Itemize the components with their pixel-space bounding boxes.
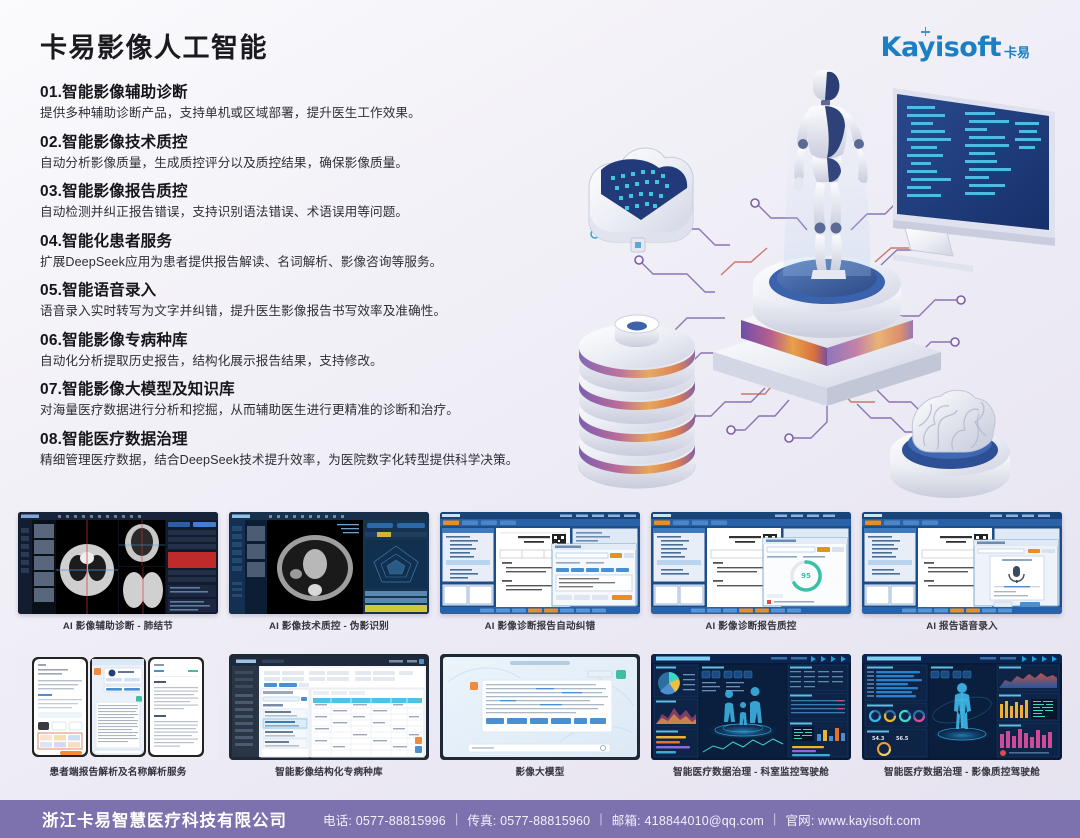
screenshot-caption: 影像大模型	[516, 767, 565, 779]
feature-item-08: 08.智能医疗数据治理 精细管理医疗数据，结合DeepSeek技术提升效率，为医…	[40, 429, 570, 469]
footer-contact-info: 电话: 0577-88815996 | 传真: 0577-88815960 | …	[323, 810, 921, 829]
footer-website: 官网: www.kayisoft.com	[785, 810, 920, 829]
feature-description: 自动分析影像质量，生成质控评分以及质控结果，确保影像质量。	[40, 155, 570, 172]
gallery-item-ct-viewer-radar[interactable]: AI 影像技术质控 - 伪影识别	[229, 512, 429, 633]
feature-title: 03.智能影像报告质控	[40, 181, 570, 202]
gallery-item-dashboard-quality[interactable]: 54.3 56.5	[862, 654, 1062, 779]
feature-description: 扩展DeepSeek应用为患者提供报告解读、名词解析、影像咨询等服务。	[40, 254, 570, 271]
monitor-code-screen	[893, 88, 1055, 272]
logo-chinese-name: 卡易	[1004, 46, 1030, 61]
footer-separator: |	[773, 812, 776, 826]
feature-title: 06.智能影像专病种库	[40, 330, 570, 351]
footer-bar: 浙江卡易智慧医疗科技有限公司 电话: 0577-88815996 | 传真: 0…	[0, 800, 1080, 838]
footer-company-name: 浙江卡易智慧医疗科技有限公司	[42, 807, 287, 831]
screenshot-thumbnail[interactable]	[440, 654, 640, 760]
feature-list: 01.智能影像辅助诊断 提供多种辅助诊断产品，支持单机或区域部署，提升医生工作效…	[40, 82, 570, 478]
gallery-item-dashboard-dept[interactable]: 智能医疗数据治理 - 科室监控驾驶舱	[651, 654, 851, 779]
feature-item-05: 05.智能语音录入 语音录入实时转写为文字并纠错，提升医生影像报告书写效率及准确…	[40, 280, 570, 320]
screenshot-gallery: AI 影像辅助诊断 - 肺结节	[0, 512, 1080, 779]
screenshot-caption: AI 影像技术质控 - 伪影识别	[269, 621, 389, 633]
feature-item-07: 07.智能影像大模型及知识库 对海量医疗数据进行分析和挖掘，从而辅助医生进行更精…	[40, 379, 570, 419]
footer-fax: 传真: 0577-88815960	[467, 810, 590, 829]
gallery-item-report-editor-gauge[interactable]: 95 AI 影像诊断报告质控	[651, 512, 851, 633]
cloud-icon	[589, 148, 693, 252]
svg-text:95: 95	[801, 572, 811, 580]
screenshot-thumbnail[interactable]	[18, 654, 218, 760]
feature-title: 08.智能医疗数据治理	[40, 429, 570, 450]
gallery-row-1: AI 影像辅助诊断 - 肺结节	[0, 512, 1080, 633]
footer-phone: 电话: 0577-88815996	[323, 810, 446, 829]
hero-illustration	[575, 70, 1080, 515]
screenshot-thumbnail[interactable]	[229, 512, 429, 614]
poster-page: 卡易影像人工智能 Kayisoft 卡易 01.智能影像辅助诊断 提供多种辅助诊…	[0, 0, 1080, 838]
screenshot-thumbnail[interactable]	[440, 512, 640, 614]
feature-item-02: 02.智能影像技术质控 自动分析影像质量，生成质控评分以及质控结果，确保影像质量…	[40, 132, 570, 172]
screenshot-thumbnail[interactable]: 54.3 56.5	[862, 654, 1062, 760]
gallery-item-ct-viewer-dark[interactable]: AI 影像辅助诊断 - 肺结节	[18, 512, 218, 633]
footer-separator: |	[455, 812, 458, 826]
screenshot-caption: 智能影像结构化专病种库	[275, 767, 383, 779]
feature-item-01: 01.智能影像辅助诊断 提供多种辅助诊断产品，支持单机或区域部署，提升医生工作效…	[40, 82, 570, 122]
screenshot-caption: 智能医疗数据治理 - 科室监控驾驶舱	[673, 767, 829, 779]
feature-item-04: 04.智能化患者服务 扩展DeepSeek应用为患者提供报告解读、名词解析、影像…	[40, 231, 570, 271]
screenshot-caption: 智能医疗数据治理 - 影像质控驾驶舱	[884, 767, 1040, 779]
database-stack	[579, 315, 695, 488]
screenshot-caption: AI 报告语音录入	[926, 621, 998, 633]
feature-description: 自动检测并纠正报告错误，支持识别语法错误、术语误用等问题。	[40, 204, 570, 221]
screenshot-caption: 患者端报告解析及名称解析服务	[49, 767, 186, 779]
feature-title: 05.智能语音录入	[40, 280, 570, 301]
feature-description: 对海量医疗数据进行分析和挖掘，从而辅助医生进行更精准的诊断和治疗。	[40, 402, 570, 419]
footer-email: 邮箱: 418844010@qq.com	[612, 810, 764, 829]
svg-text:54.3: 54.3	[872, 736, 885, 742]
svg-text:56.5: 56.5	[896, 736, 909, 742]
gallery-item-report-editor-blue[interactable]: AI 影像诊断报告自动纠错	[440, 512, 640, 633]
gallery-item-mobile-phones[interactable]: 患者端报告解析及名称解析服务	[18, 654, 218, 779]
screenshot-caption: AI 影像诊断报告质控	[705, 621, 796, 633]
gallery-item-llm-chat[interactable]: 影像大模型	[440, 654, 640, 779]
feature-description: 自动化分析提取历史报告，结构化展示报告结果，支持修改。	[40, 353, 570, 370]
screenshot-thumbnail[interactable]: 95	[651, 512, 851, 614]
feature-description: 提供多种辅助诊断产品，支持单机或区域部署，提升医生工作效果。	[40, 105, 570, 122]
gallery-item-web-table-console[interactable]: 智能影像结构化专病种库	[229, 654, 429, 779]
screenshot-thumbnail[interactable]	[229, 654, 429, 760]
brain-model	[890, 390, 1010, 498]
feature-title: 02.智能影像技术质控	[40, 132, 570, 153]
brand-logo: Kayisoft 卡易	[881, 34, 1030, 61]
footer-separator: |	[599, 812, 602, 826]
feature-title: 01.智能影像辅助诊断	[40, 82, 570, 103]
screenshot-thumbnail[interactable]	[862, 512, 1062, 614]
feature-title: 07.智能影像大模型及知识库	[40, 379, 570, 400]
feature-description: 精细管理医疗数据，结合DeepSeek技术提升效率，为医院数字化转型提供科学决策…	[40, 452, 570, 469]
screenshot-caption: AI 影像诊断报告自动纠错	[485, 621, 596, 633]
feature-title: 04.智能化患者服务	[40, 231, 570, 252]
gallery-item-report-editor-mic[interactable]: AI 报告语音录入	[862, 512, 1062, 633]
logo-wordmark: Kayisoft	[881, 34, 1001, 61]
screenshot-caption: AI 影像辅助诊断 - 肺结节	[63, 621, 173, 633]
gallery-row-2: 患者端报告解析及名称解析服务	[0, 654, 1080, 779]
screenshot-thumbnail[interactable]	[651, 654, 851, 760]
screenshot-thumbnail[interactable]	[18, 512, 218, 614]
feature-description: 语音录入实时转写为文字并纠错，提升医生影像报告书写效率及准确性。	[40, 303, 570, 320]
feature-item-06: 06.智能影像专病种库 自动化分析提取历史报告，结构化展示报告结果，支持修改。	[40, 330, 570, 370]
feature-item-03: 03.智能影像报告质控 自动检测并纠正报告错误，支持识别语法错误、术语误用等问题…	[40, 181, 570, 221]
